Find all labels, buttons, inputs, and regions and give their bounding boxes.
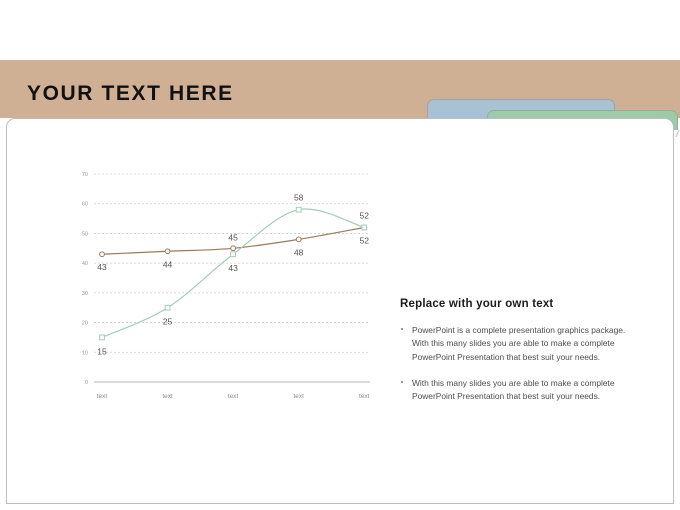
y-axis-tick: 0: [85, 380, 88, 386]
data-point-marker: [296, 207, 301, 212]
x-axis-tick: text: [228, 393, 239, 400]
data-point-marker: [100, 335, 105, 340]
x-axis-tick: text: [359, 393, 370, 400]
data-point-marker: [231, 246, 236, 251]
bullet-list: PowerPoint is a complete presentation gr…: [400, 324, 632, 403]
slide-canvas: YOUR TEXT HERE 706050403020100texttextte…: [0, 0, 680, 510]
y-axis-tick: 10: [82, 350, 88, 356]
line-chart: 706050403020100texttexttexttexttext43444…: [58, 160, 378, 410]
list-item: With this many slides you are able to ma…: [400, 377, 632, 404]
data-point-label: 45: [228, 232, 238, 242]
data-point-label: 43: [228, 263, 238, 273]
y-axis-tick: 50: [82, 231, 88, 237]
text-block: Replace with your own text PowerPoint is…: [400, 298, 632, 403]
data-point-label: 44: [163, 259, 173, 269]
data-point-marker: [362, 225, 367, 230]
page-title: YOUR TEXT HERE: [27, 83, 234, 104]
data-point-marker: [165, 305, 170, 310]
data-point-label: 48: [294, 247, 304, 257]
text-block-heading: Replace with your own text: [400, 298, 632, 310]
list-item-text: PowerPoint is a complete presentation gr…: [412, 325, 625, 362]
y-axis-tick: 70: [82, 172, 88, 178]
bullet-icon: [401, 328, 403, 330]
y-axis-tick: 30: [82, 291, 88, 297]
list-item-text: With this many slides you are able to ma…: [412, 378, 615, 401]
y-axis-tick: 40: [82, 261, 88, 267]
y-axis-tick: 60: [82, 202, 88, 208]
data-point-label: 52: [360, 235, 370, 245]
chart-svg: 706050403020100texttexttexttexttext43444…: [58, 160, 378, 410]
y-axis-tick: 20: [82, 321, 88, 327]
data-point-label: 25: [163, 317, 173, 327]
data-point-marker: [231, 252, 236, 257]
data-point-label: 43: [97, 262, 107, 272]
data-point-marker: [296, 237, 301, 242]
x-axis-tick: text: [162, 393, 173, 400]
data-point-label: 52: [360, 210, 370, 220]
data-point-label: 58: [294, 193, 304, 203]
x-axis-tick: text: [97, 393, 108, 400]
data-point-marker: [100, 252, 105, 257]
data-point-label: 15: [97, 346, 107, 356]
list-item: PowerPoint is a complete presentation gr…: [400, 324, 632, 364]
x-axis-tick: text: [293, 393, 304, 400]
bullet-icon: [401, 381, 403, 383]
data-point-marker: [165, 249, 170, 254]
